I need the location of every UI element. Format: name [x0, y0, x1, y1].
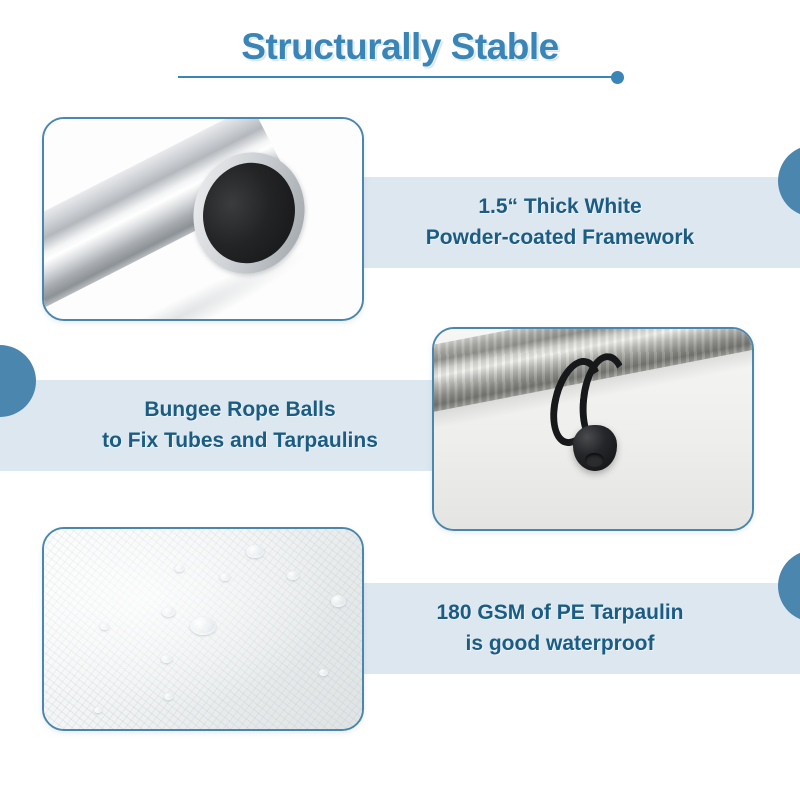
title-dot	[611, 71, 624, 84]
feature-photo-tarpaulin	[42, 527, 364, 731]
title-underline	[178, 76, 616, 78]
feature-band-bungee: Bungee Rope Balls to Fix Tubes and Tarpa…	[0, 380, 440, 471]
water-droplet	[164, 693, 173, 700]
feature-photo-framework	[42, 117, 364, 321]
tube-photo	[44, 119, 362, 319]
bungee-photo	[434, 329, 752, 529]
feature-band-tarpaulin: 180 GSM of PE Tarpaulin is good waterpro…	[360, 583, 800, 674]
bungee-ball-hole	[585, 453, 604, 467]
infographic-page: Structurally Stable 1.5“ Thick White Pow…	[0, 0, 800, 800]
feature-band-framework: 1.5“ Thick White Powder-coated Framework	[360, 177, 800, 268]
feature-caption-tarpaulin: 180 GSM of PE Tarpaulin is good waterpro…	[437, 598, 684, 659]
tarpaulin-photo	[44, 529, 362, 729]
water-droplet	[100, 623, 109, 630]
feature-caption-bungee: Bungee Rope Balls to Fix Tubes and Tarpa…	[102, 395, 378, 456]
water-droplet	[190, 617, 216, 635]
water-droplet	[175, 565, 184, 572]
water-droplet	[220, 573, 230, 581]
water-droplet	[331, 595, 346, 607]
page-title: Structurally Stable	[0, 26, 800, 68]
water-droplet	[94, 707, 102, 713]
water-droplet	[246, 545, 264, 558]
water-droplet	[162, 607, 175, 617]
water-droplet	[287, 571, 299, 580]
feature-photo-bungee	[432, 327, 754, 531]
feature-caption-framework: 1.5“ Thick White Powder-coated Framework	[426, 192, 694, 253]
water-droplet	[319, 669, 328, 676]
water-droplet	[161, 655, 172, 663]
